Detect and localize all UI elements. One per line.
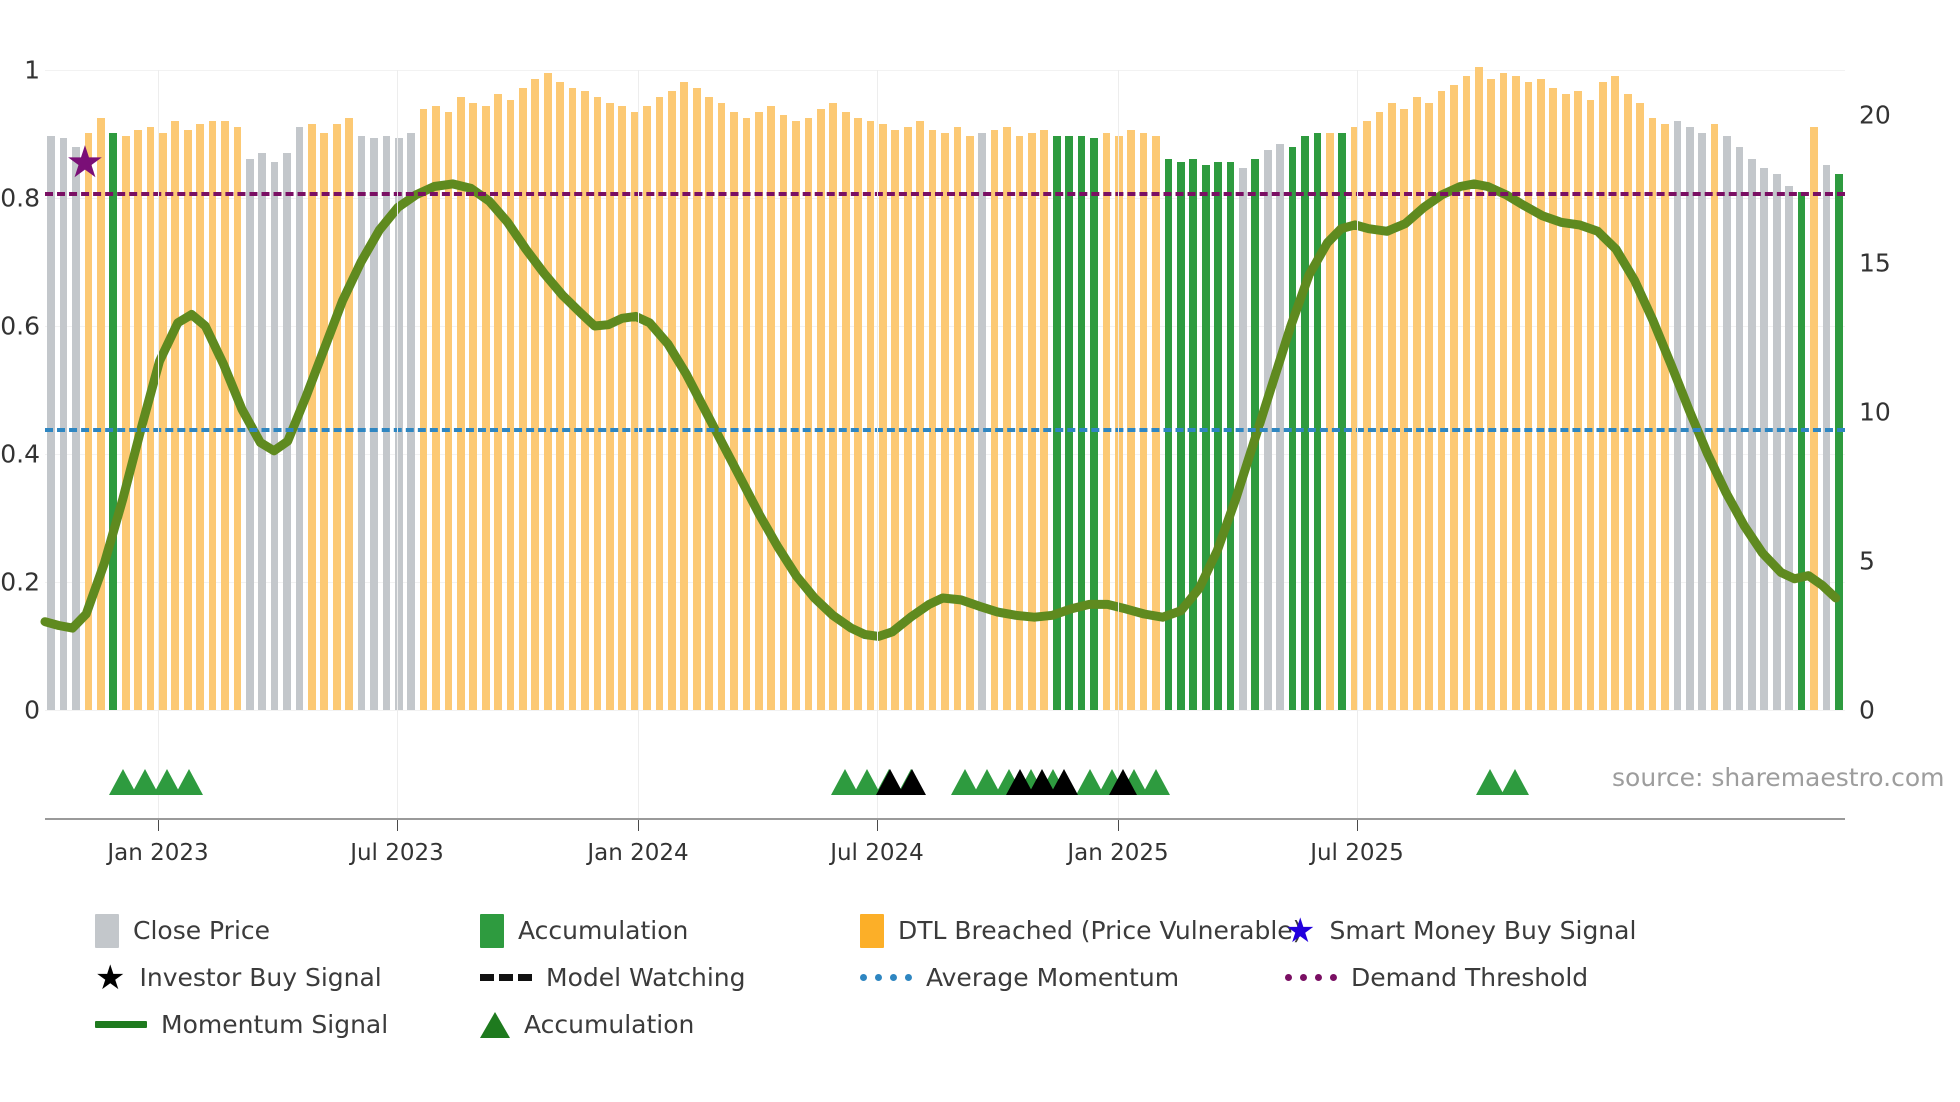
x-tick-label-1: Jul 2023 xyxy=(350,840,444,866)
legend-row-1: ★Investor Buy SignalModel WatchingAverag… xyxy=(95,962,1935,993)
star-icon: ★ xyxy=(95,961,125,995)
investor-buy-signal-marker[interactable] xyxy=(898,769,926,795)
legend-item-demand-threshold[interactable]: Demand Threshold xyxy=(1285,963,1588,992)
legend-label-dtl-breached: DTL Breached (Price Vulnerable) xyxy=(898,916,1302,945)
gridline-h-0 xyxy=(45,710,1845,711)
legend-item-momentum-signal[interactable]: Momentum Signal xyxy=(95,1010,388,1039)
x-tickmark-2 xyxy=(638,820,639,831)
investor-buy-signal-marker[interactable] xyxy=(1050,769,1078,795)
y-tick-right-0: 0 xyxy=(1859,696,1919,725)
x-tickmark-5 xyxy=(1357,820,1358,831)
chart-legend: Close PriceAccumulationDTL Breached (Pri… xyxy=(95,915,1935,1056)
gridline-v-1 xyxy=(397,70,398,818)
line-icon xyxy=(95,1021,147,1028)
star-icon: ★ xyxy=(1285,914,1315,948)
y-tick-left-5: 1 xyxy=(0,56,40,85)
accumulation-marker[interactable] xyxy=(1501,769,1529,795)
x-tickmark-4 xyxy=(1118,820,1119,831)
y-tick-left-1: 0.2 xyxy=(0,568,40,597)
legend-label-smart-money-buy-signal: Smart Money Buy Signal xyxy=(1329,916,1636,945)
legend-item-smart-money-buy-signal[interactable]: ★Smart Money Buy Signal xyxy=(1285,914,1636,948)
x-tick-label-3: Jul 2024 xyxy=(830,840,924,866)
accumulation-marker[interactable] xyxy=(1476,769,1504,795)
x-tickmark-1 xyxy=(397,820,398,831)
signal-marker-row xyxy=(45,755,1845,795)
investor-buy-signal-marker[interactable] xyxy=(1109,769,1137,795)
dotted-line-icon xyxy=(1285,974,1337,981)
legend-item-investor-buy-signal[interactable]: ★Investor Buy Signal xyxy=(95,961,382,995)
accumulation-marker[interactable] xyxy=(175,769,203,795)
x-tick-label-2: Jan 2024 xyxy=(587,840,688,866)
close-price-swatch-icon xyxy=(95,914,119,948)
x-axis-line xyxy=(45,818,1845,820)
legend-item-accumulation-tri[interactable]: Accumulation xyxy=(480,1010,694,1039)
legend-label-accumulation-bar: Accumulation xyxy=(518,916,688,945)
triangle-icon xyxy=(480,1012,510,1038)
gridline-v-5 xyxy=(1357,70,1358,818)
threshold-lines: ★ xyxy=(45,70,1845,710)
legend-item-close-price[interactable]: Close Price xyxy=(95,914,270,948)
legend-item-accumulation-bar[interactable]: Accumulation xyxy=(480,914,688,948)
demand-threshold-line xyxy=(45,192,1845,196)
dotted-line-icon xyxy=(860,974,912,981)
dtl-breached-swatch-icon xyxy=(860,914,884,948)
x-tick-label-5: Jul 2025 xyxy=(1310,840,1404,866)
x-tick-label-4: Jan 2025 xyxy=(1067,840,1168,866)
y-tick-left-0: 0 xyxy=(0,696,40,725)
y-tick-right-2: 10 xyxy=(1859,398,1919,427)
legend-label-accumulation-tri: Accumulation xyxy=(524,1010,694,1039)
gridline-v-4 xyxy=(1118,70,1119,818)
x-tickmark-3 xyxy=(877,820,878,831)
legend-label-average-momentum: Average Momentum xyxy=(926,963,1179,992)
legend-label-momentum-signal: Momentum Signal xyxy=(161,1010,388,1039)
legend-label-investor-buy-signal: Investor Buy Signal xyxy=(139,963,381,992)
legend-row-2: Momentum SignalAccumulation xyxy=(95,1009,1935,1040)
gridline-v-2 xyxy=(638,70,639,818)
y-tick-left-2: 0.4 xyxy=(0,440,40,469)
smart-money-buy-signal-marker[interactable]: ★ xyxy=(65,141,104,185)
accumulation-marker[interactable] xyxy=(1142,769,1170,795)
chart-root: 00.20.40.60.81 05101520 ★ source: sharem… xyxy=(0,0,1960,1102)
y-tick-right-4: 20 xyxy=(1859,100,1919,129)
legend-item-dtl-breached[interactable]: DTL Breached (Price Vulnerable) xyxy=(860,914,1302,948)
legend-label-model-watching: Model Watching xyxy=(546,963,746,992)
plot-area: ★ xyxy=(45,70,1845,710)
accumulation-bar-swatch-icon xyxy=(480,914,504,948)
source-watermark: source: sharemaestro.com xyxy=(1612,763,1945,792)
y-tick-right-3: 15 xyxy=(1859,249,1919,278)
dashed-line-icon xyxy=(480,974,532,981)
gridline-v-0 xyxy=(158,70,159,818)
legend-label-close-price: Close Price xyxy=(133,916,270,945)
x-tick-label-0: Jan 2023 xyxy=(107,840,208,866)
average-momentum-line xyxy=(45,428,1845,432)
legend-item-average-momentum[interactable]: Average Momentum xyxy=(860,963,1179,992)
y-tick-right-1: 5 xyxy=(1859,547,1919,576)
legend-row-0: Close PriceAccumulationDTL Breached (Pri… xyxy=(95,915,1935,946)
legend-item-model-watching[interactable]: Model Watching xyxy=(480,963,746,992)
x-tickmark-0 xyxy=(158,820,159,831)
y-tick-left-4: 0.8 xyxy=(0,184,40,213)
gridline-v-3 xyxy=(877,70,878,818)
legend-label-demand-threshold: Demand Threshold xyxy=(1351,963,1588,992)
y-tick-left-3: 0.6 xyxy=(0,312,40,341)
